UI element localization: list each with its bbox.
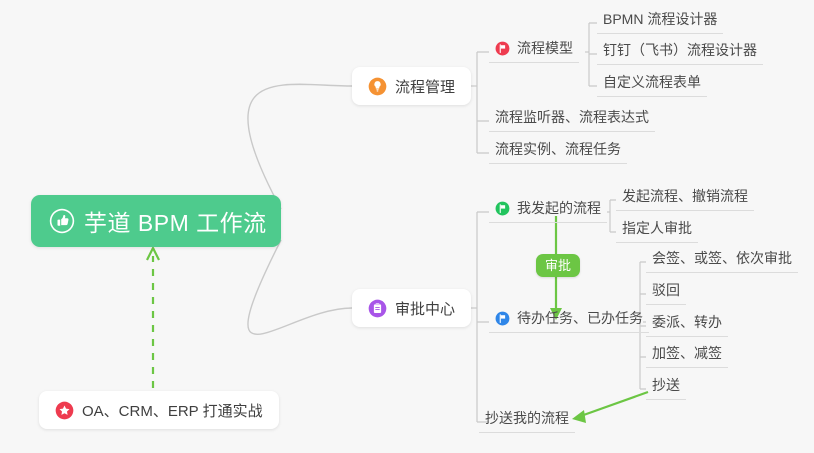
node-delegate-transfer[interactable]: 委派、转办 <box>646 312 728 337</box>
node-label: 加签、减签 <box>652 343 722 363</box>
branch-label: 流程管理 <box>395 76 455 97</box>
node-cc-to-me-processes[interactable]: 抄送我的流程 <box>479 408 575 433</box>
node-todo-done-tasks[interactable]: 待办任务、已办任务 <box>489 308 649 333</box>
node-label: 我发起的流程 <box>517 198 601 218</box>
node-process-instance-task[interactable]: 流程实例、流程任务 <box>489 139 627 164</box>
node-label: 自定义流程表单 <box>603 72 701 92</box>
root-node[interactable]: 芋道 BPM 工作流 <box>31 195 281 247</box>
node-label: 指定人审批 <box>622 218 692 238</box>
node-label: 待办任务、已办任务 <box>517 308 643 328</box>
approval-badge-label: 审批 <box>545 258 571 273</box>
branch-label: 审批中心 <box>395 298 455 319</box>
node-reject[interactable]: 驳回 <box>646 280 686 305</box>
thumbs-up-icon <box>49 208 75 234</box>
node-label: 流程模型 <box>517 38 573 58</box>
node-label: 抄送 <box>652 375 680 395</box>
mindmap-canvas: 芋道 BPM 工作流 流程管理 流程模型 BPMN 流程设计器 钉钉（飞书）流程 <box>0 0 814 453</box>
node-label: 委派、转办 <box>652 312 722 332</box>
lightbulb-icon <box>368 77 387 96</box>
node-label: 钉钉（飞书）流程设计器 <box>603 40 757 60</box>
flag-icon <box>495 41 510 56</box>
star-icon <box>55 401 74 420</box>
node-label: OA、CRM、ERP 打通实战 <box>82 400 263 421</box>
node-countersign-orsign-sequential[interactable]: 会签、或签、依次审批 <box>646 248 798 273</box>
node-label: BPMN 流程设计器 <box>603 9 717 29</box>
node-label: 驳回 <box>652 280 680 300</box>
node-process-listener-expression[interactable]: 流程监听器、流程表达式 <box>489 107 655 132</box>
node-add-remove-sign[interactable]: 加签、减签 <box>646 343 728 368</box>
node-bpmn-designer[interactable]: BPMN 流程设计器 <box>597 9 723 34</box>
node-start-cancel-process[interactable]: 发起流程、撤销流程 <box>616 186 754 211</box>
clipboard-icon <box>368 299 387 318</box>
flag-icon <box>495 201 510 216</box>
node-oa-crm-erp[interactable]: OA、CRM、ERP 打通实战 <box>39 391 279 429</box>
node-label: 流程实例、流程任务 <box>495 139 621 159</box>
root-label: 芋道 BPM 工作流 <box>84 204 267 238</box>
approval-badge: 审批 <box>536 254 580 277</box>
node-label: 会签、或签、依次审批 <box>652 248 792 268</box>
node-dingtalk-feishu-designer[interactable]: 钉钉（飞书）流程设计器 <box>597 40 763 65</box>
node-label: 流程监听器、流程表达式 <box>495 107 649 127</box>
flag-icon <box>495 311 510 326</box>
node-label: 发起流程、撤销流程 <box>622 186 748 206</box>
branch-approval-center[interactable]: 审批中心 <box>352 289 471 327</box>
node-custom-process-form[interactable]: 自定义流程表单 <box>597 72 707 97</box>
node-carbon-copy[interactable]: 抄送 <box>646 375 686 400</box>
node-process-model[interactable]: 流程模型 <box>489 38 579 63</box>
branch-process-management[interactable]: 流程管理 <box>352 67 471 105</box>
node-assignee-approval[interactable]: 指定人审批 <box>616 218 698 243</box>
node-label: 抄送我的流程 <box>485 408 569 428</box>
node-my-initiated-processes[interactable]: 我发起的流程 <box>489 198 607 223</box>
